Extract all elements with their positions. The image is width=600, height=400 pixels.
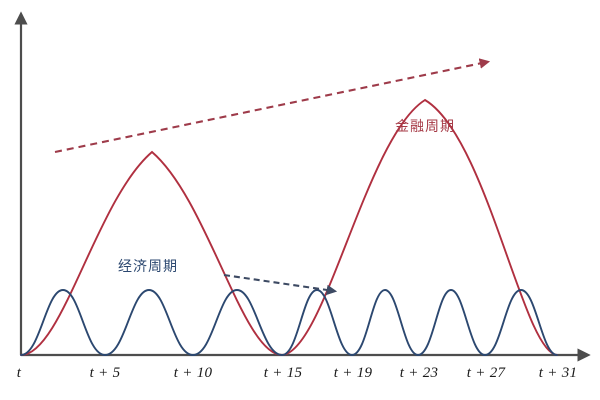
economic-cycle-curve [21, 290, 557, 355]
economic-wave-1 [21, 290, 105, 355]
tick-label-t: t [17, 365, 21, 382]
financial-arch-2 [282, 100, 557, 355]
financial-cycle-curve [21, 100, 557, 355]
financial-trend-arrow [55, 62, 487, 152]
tick-label-t19: t + 19 [334, 365, 373, 382]
tick-label-t23: t + 23 [400, 365, 439, 382]
economic-wave-6 [418, 290, 485, 355]
economic-trend-arrow [224, 275, 334, 291]
economic-cycle-label: 经济周期 [118, 256, 178, 276]
economic-wave-4 [282, 290, 352, 355]
tick-label-t15: t + 15 [264, 365, 303, 382]
tick-label-t5: t + 5 [90, 365, 121, 382]
economic-wave-2 [105, 290, 193, 355]
economic-wave-5 [352, 290, 418, 355]
economic-wave-7 [485, 290, 557, 355]
financial-cycle-label: 金融周期 [395, 116, 455, 136]
tick-label-t27: t + 27 [467, 365, 506, 382]
axis-group [21, 14, 588, 355]
tick-label-t31: t + 31 [539, 365, 578, 382]
chart-canvas: 金融周期 经济周期 t t + 5 t + 10 t + 15 t + 19 t… [0, 0, 600, 400]
financial-arch-1 [21, 152, 282, 355]
tick-label-t10: t + 10 [174, 365, 213, 382]
cycle-chart-svg [0, 0, 600, 400]
